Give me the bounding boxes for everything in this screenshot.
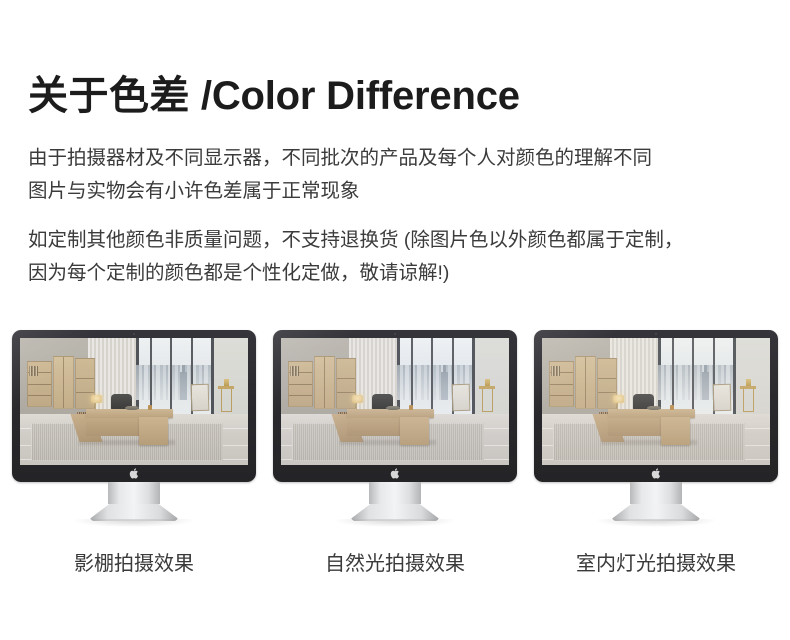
monitor-stand-neck: [369, 482, 421, 504]
page-title: 关于色差 /Color Difference: [28, 72, 520, 120]
monitor-comparison-row: 影棚拍摄效果: [0, 330, 790, 590]
webcam-icon: [133, 333, 135, 335]
monitor-shadow: [74, 519, 194, 527]
office-scene-image: [20, 338, 248, 465]
office-scene-image: [281, 338, 509, 465]
monitor-screen: [20, 338, 248, 465]
monitor-bezel: [12, 330, 256, 482]
page-title-cn: 关于色差: [28, 74, 190, 118]
paragraph-line: 图片与实物会有小许色差属于正常现象: [28, 175, 758, 208]
monitor-stand-neck: [630, 482, 682, 504]
apple-logo-icon: [652, 468, 661, 479]
monitor-cell-studio: 影棚拍摄效果: [12, 330, 256, 590]
paragraph-color-variance-note: 由于拍摄器材及不同显示器，不同批次的产品及每个人对颜色的理解不同 图片与实物会有…: [28, 142, 758, 208]
monitor-shadow: [596, 519, 716, 527]
monitor-cell-natural: 自然光拍摄效果: [273, 330, 517, 590]
monitor-display: [273, 330, 517, 525]
paragraph-custom-color-policy: 如定制其他颜色非质量问题，不支持退换货 (除图片色以外颜色都属于定制， 因为每个…: [28, 224, 758, 290]
monitor-stand-neck: [108, 482, 160, 504]
monitor-screen: [281, 338, 509, 465]
monitor-screen: [542, 338, 770, 465]
paragraph-line: 如定制其他颜色非质量问题，不支持退换货 (除图片色以外颜色都属于定制，: [28, 224, 758, 257]
monitor-bezel: [534, 330, 778, 482]
page-title-en: /Color Difference: [190, 74, 520, 118]
monitor-display: [534, 330, 778, 525]
paragraph-line: 由于拍摄器材及不同显示器，不同批次的产品及每个人对颜色的理解不同: [28, 142, 758, 175]
monitor-display: [12, 330, 256, 525]
monitor-caption: 室内灯光拍摄效果: [576, 551, 736, 577]
monitor-caption: 影棚拍摄效果: [74, 551, 194, 577]
monitor-bezel: [273, 330, 517, 482]
webcam-icon: [394, 333, 396, 335]
monitor-caption: 自然光拍摄效果: [325, 551, 465, 577]
office-scene-image: [542, 338, 770, 465]
monitor-shadow: [335, 519, 455, 527]
webcam-icon: [655, 333, 657, 335]
apple-logo-icon: [391, 468, 400, 479]
color-difference-page: 关于色差 /Color Difference 由于拍摄器材及不同显示器，不同批次…: [0, 0, 790, 640]
paragraph-line: 因为每个定制的颜色都是个性化定做，敬请谅解!): [28, 257, 758, 290]
apple-logo-icon: [130, 468, 139, 479]
monitor-cell-indoor: 室内灯光拍摄效果: [534, 330, 778, 590]
